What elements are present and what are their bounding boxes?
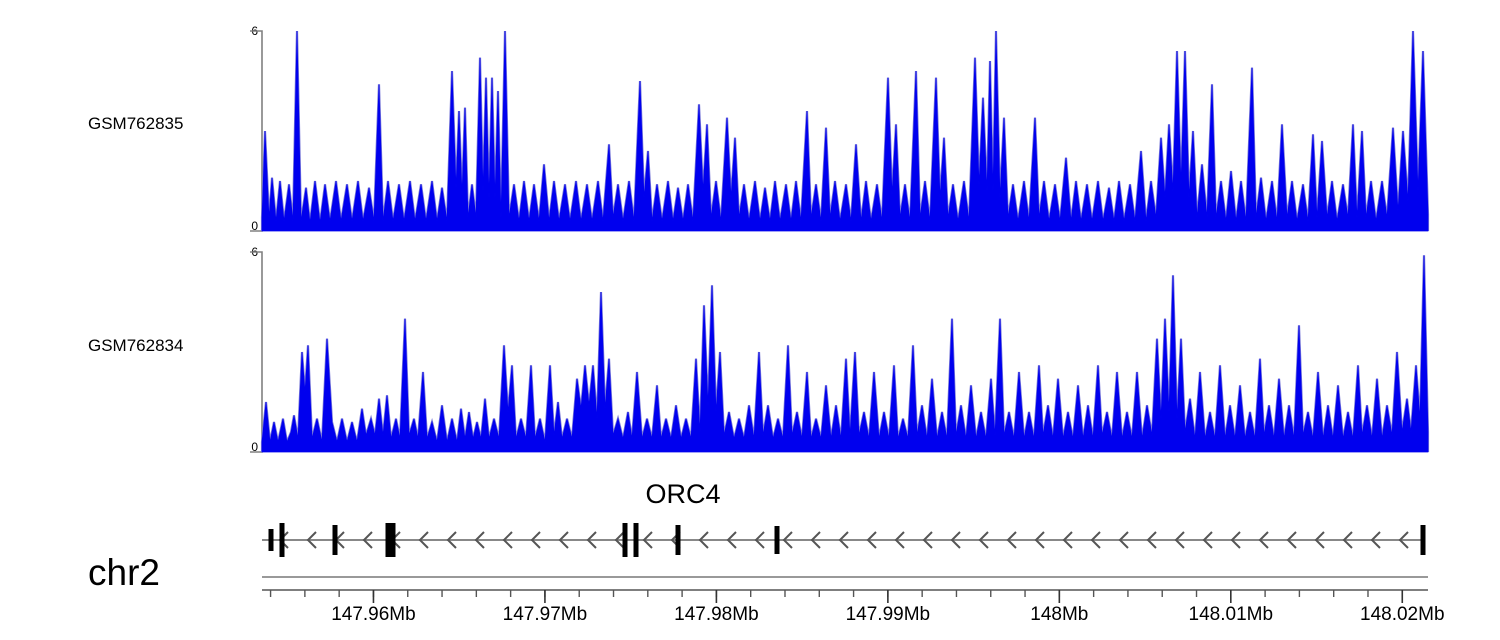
x-axis-tick-label: 147.96Mb	[331, 604, 416, 626]
x-axis-tick-label: 148Mb	[1030, 604, 1088, 626]
signal-track-1	[262, 255, 1428, 452]
x-axis	[262, 590, 1428, 603]
x-axis-tick-label: 148.02Mb	[1360, 604, 1445, 626]
signal-area-1	[262, 255, 1428, 452]
exon-block[interactable]	[634, 523, 639, 557]
genome-browser-view: GSM762835 GSM762834 6 0 6 0 ORC4 chr2 14…	[0, 0, 1500, 640]
exon-block[interactable]	[676, 525, 681, 555]
exon-block[interactable]	[280, 523, 285, 557]
x-axis-tick-label: 147.98Mb	[674, 604, 759, 626]
exon-block[interactable]	[391, 523, 396, 557]
exon-block[interactable]	[623, 523, 628, 557]
exon-block[interactable]	[1421, 525, 1426, 555]
gene-model-track[interactable]	[262, 523, 1426, 557]
signal-track-0	[262, 31, 1428, 231]
exon-block[interactable]	[386, 523, 391, 557]
exon-block[interactable]	[775, 526, 780, 554]
exon-block[interactable]	[333, 525, 338, 555]
y-axis-track-1	[250, 252, 262, 452]
y-axis-line-0	[250, 31, 262, 231]
x-axis-tick-label: 147.97Mb	[503, 604, 588, 626]
x-axis-tick-label: 148.01Mb	[1189, 604, 1274, 626]
genome-tracks-canvas	[0, 0, 1500, 640]
y-axis-line-1	[250, 252, 262, 452]
x-axis-tick-label: 147.99Mb	[846, 604, 931, 626]
exon-block[interactable]	[269, 529, 274, 551]
signal-area-0	[262, 31, 1428, 231]
y-axis-track-0	[250, 31, 262, 231]
